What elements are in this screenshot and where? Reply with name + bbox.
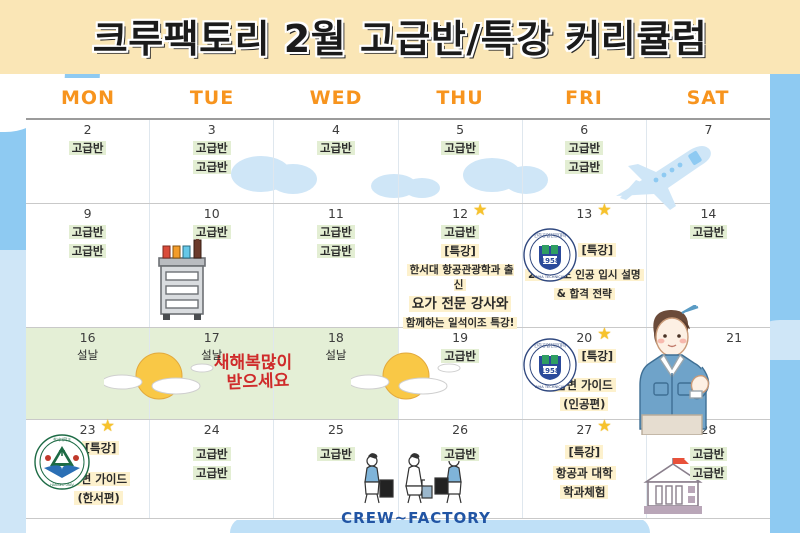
event-item: 고급반 — [28, 225, 147, 240]
calendar-week-1: 2 고급반 3 고급반 고급반 4 고급반 5 고급반 6 — [26, 120, 770, 204]
date-number: 16 — [28, 330, 147, 345]
event-item: 학과체험 — [525, 485, 644, 500]
date-number: 17 — [152, 330, 271, 345]
event-item: 고급반 — [152, 141, 271, 156]
date-number: 5 — [401, 122, 520, 137]
event-item: 고급반 — [276, 225, 395, 240]
calendar-cell-4[interactable]: 4 고급반 — [274, 120, 398, 203]
event-item: 고급반 — [152, 466, 271, 481]
date-number: 11 — [276, 206, 395, 221]
calendar-cell-5[interactable]: 5 고급반 — [399, 120, 523, 203]
event-item: 고급반 — [276, 447, 395, 462]
svg-text:인하공업전문대학: 인하공업전문대학 — [534, 232, 566, 239]
event-item: [특강] — [525, 445, 644, 460]
date-number: 10 — [152, 206, 271, 221]
date-number: 9 — [28, 206, 147, 221]
star-icon: ★ — [597, 420, 611, 432]
event-item: 고급반 — [401, 447, 520, 462]
inha-college-seal-icon: 1958 인하공업전문대학 INHA TECHNICAL — [523, 228, 577, 282]
right-blue-band — [770, 72, 800, 533]
event-item: 고급반 — [649, 225, 768, 240]
weekday-thu: THU — [398, 78, 522, 118]
event-item: 함께하는 일석이조 특강! — [401, 316, 520, 331]
date-number: 19 — [401, 330, 520, 345]
date-number: 13★ — [525, 206, 644, 221]
date-number: 3 — [152, 122, 271, 137]
event-item: 항공과 대학 — [525, 466, 644, 481]
svg-text:INHA TECHNICAL: INHA TECHNICAL — [535, 275, 565, 279]
page-title: 크루팩토리 2월 고급반/특강 커리큘럼 — [0, 8, 800, 63]
event-item: 설날 — [276, 348, 395, 363]
weekday-wed: WED — [274, 78, 398, 118]
event-item: 고급반 — [152, 447, 271, 462]
event-item: 고급반 — [401, 349, 520, 364]
date-number: 12★ — [401, 206, 520, 221]
event-item: 한서대 항공관광학과 출신 — [401, 263, 520, 293]
event-item: 고급반 — [152, 225, 271, 240]
date-number: 26 — [401, 422, 520, 437]
star-icon: ★ — [473, 204, 487, 216]
star-icon: ★ — [597, 328, 611, 340]
event-item: 고급반 — [525, 160, 644, 175]
svg-text:INHA TECHNICAL: INHA TECHNICAL — [535, 385, 565, 389]
svg-text:1958: 1958 — [540, 367, 560, 375]
weekday-fri: FRI — [522, 78, 646, 118]
person-illustration — [620, 305, 730, 435]
calendar-cell-2[interactable]: 2 고급반 — [26, 120, 150, 203]
date-number: 24 — [152, 422, 271, 437]
svg-text:1958: 1958 — [540, 257, 560, 265]
event-item: 설날 — [152, 348, 271, 363]
date-number: 4 — [276, 122, 395, 137]
event-item: 고급반 — [276, 244, 395, 259]
svg-text:HANSEO UNIV: HANSEO UNIV — [50, 483, 74, 487]
event-item: 고급반 — [525, 141, 644, 156]
weekday-sat: SAT — [646, 78, 770, 118]
calendar-cell-9[interactable]: 9 고급반 고급반 — [26, 204, 150, 327]
event-item: (한서편) — [50, 491, 147, 506]
calendar-cell-11[interactable]: 11 고급반 고급반 — [274, 204, 398, 327]
event-item: 고급반 — [401, 141, 520, 156]
calendar-page: 크루팩토리 2월 고급반/특강 커리큘럼 MON TUE WED THU FRI… — [0, 0, 800, 533]
event-item: & 합격 전략 — [525, 287, 644, 302]
star-icon: ★ — [597, 204, 611, 216]
star-icon: ★ — [101, 420, 115, 432]
calendar-cell-12[interactable]: 12★ 고급반 [특강] 한서대 항공관광학과 출신 요가 전문 강사와 함께하… — [399, 204, 523, 327]
calendar: MON TUE WED THU FRI SAT — [26, 78, 770, 520]
crew-factory-wordmark: CREW~FACTORY — [336, 509, 496, 527]
inha-college-seal-icon: 1958 인하공업전문대학 INHA TECHNICAL — [523, 338, 577, 392]
date-number: 14 — [649, 206, 768, 221]
svg-text:한서대학교: 한서대학교 — [53, 437, 71, 442]
event-item: 고급반 — [276, 141, 395, 156]
greeting-line-2: 받으세요 — [199, 371, 318, 394]
event-item: 요가 전문 강사와 — [401, 297, 520, 312]
event-item: 고급반 — [401, 225, 520, 240]
event-item: 설날 — [28, 348, 147, 363]
calendar-cell-24[interactable]: 24 고급반 고급반 — [150, 420, 274, 518]
beverage-cart-icon — [151, 232, 213, 324]
date-number: 25 — [276, 422, 395, 437]
event-item: 고급반 — [152, 160, 271, 175]
crew-factory-logo: CREW~FACTORY — [336, 452, 496, 527]
event-item: 고급반 — [28, 141, 147, 156]
event-item: 고급반 — [649, 466, 768, 481]
event-item: 고급반 — [649, 447, 768, 462]
event-item: 고급반 — [28, 244, 147, 259]
svg-text:인하공업전문대학: 인하공업전문대학 — [534, 342, 566, 349]
left-soft-blue-band — [0, 250, 26, 533]
date-number: 18 — [276, 330, 395, 345]
hanseo-university-seal-icon: 한서대학교 HANSEO UNIV — [34, 434, 90, 490]
weekday-tue: TUE — [150, 78, 274, 118]
weekday-mon: MON — [26, 78, 150, 118]
date-number: 7 — [649, 122, 768, 137]
weekday-header-row: MON TUE WED THU FRI SAT — [26, 78, 770, 118]
date-number: 2 — [28, 122, 147, 137]
date-number: 6 — [525, 122, 644, 137]
calendar-cell-3[interactable]: 3 고급반 고급반 — [150, 120, 274, 203]
event-item: [특강] — [401, 244, 520, 259]
